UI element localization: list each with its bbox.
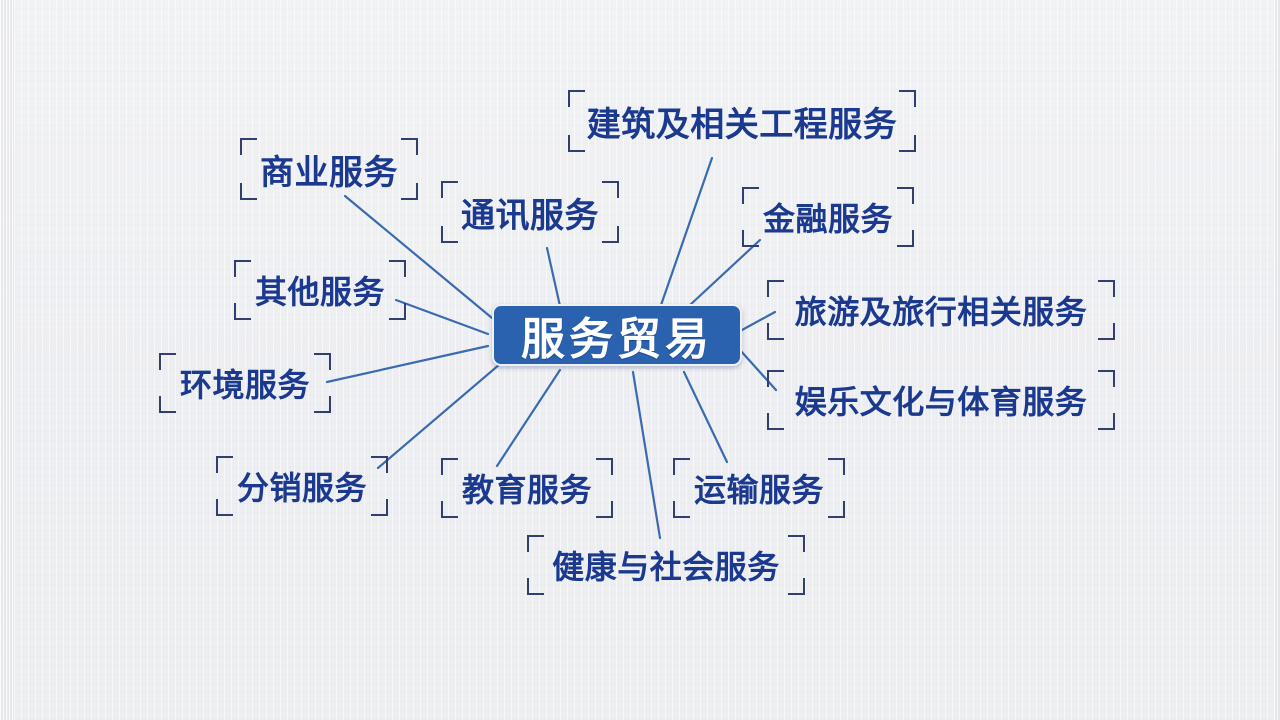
corner-bracket-bl-icon <box>767 413 784 430</box>
leaf-node-label: 环境服务 <box>180 360 310 406</box>
corner-bracket-br-icon <box>401 183 418 200</box>
leaf-node-label: 旅游及旅行相关服务 <box>795 287 1088 333</box>
corner-bracket-br-icon <box>1098 413 1115 430</box>
corner-bracket-tl-icon <box>767 280 784 297</box>
corner-bracket-tr-icon <box>1098 280 1115 297</box>
corner-bracket-bl-icon <box>767 323 784 340</box>
corner-bracket-bl-icon <box>441 226 458 243</box>
center-node-service-trade[interactable]: 服务贸易 <box>492 304 742 366</box>
leaf-node-label: 建筑及相关工程服务 <box>587 97 898 146</box>
line-distribution <box>378 364 500 468</box>
line-environment <box>327 346 488 382</box>
corner-bracket-tr-icon <box>314 353 331 370</box>
corner-bracket-tl-icon <box>234 260 251 277</box>
corner-bracket-tr-icon <box>899 90 916 107</box>
corner-bracket-tl-icon <box>527 535 544 552</box>
leaf-node-communication[interactable]: 通讯服务 <box>441 181 619 243</box>
corner-bracket-bl-icon <box>441 501 458 518</box>
corner-bracket-br-icon <box>371 499 388 516</box>
corner-bracket-br-icon <box>596 501 613 518</box>
corner-bracket-br-icon <box>897 230 914 247</box>
corner-bracket-tl-icon <box>568 90 585 107</box>
corner-bracket-bl-icon <box>234 303 251 320</box>
corner-bracket-tr-icon <box>788 535 805 552</box>
corner-bracket-tr-icon <box>1098 370 1115 387</box>
line-transport <box>684 372 727 462</box>
corner-bracket-bl-icon <box>216 499 233 516</box>
corner-bracket-br-icon <box>389 303 406 320</box>
leaf-node-label: 运输服务 <box>694 465 824 511</box>
leaf-node-transport[interactable]: 运输服务 <box>673 458 845 518</box>
corner-bracket-br-icon <box>1098 323 1115 340</box>
corner-bracket-tr-icon <box>401 138 418 155</box>
corner-bracket-br-icon <box>899 135 916 152</box>
corner-bracket-tr-icon <box>371 456 388 473</box>
line-construction <box>660 158 712 308</box>
corner-bracket-tl-icon <box>216 456 233 473</box>
corner-bracket-bl-icon <box>673 501 690 518</box>
corner-bracket-tl-icon <box>441 181 458 198</box>
corner-bracket-tl-icon <box>159 353 176 370</box>
corner-bracket-bl-icon <box>742 230 759 247</box>
corner-bracket-bl-icon <box>568 135 585 152</box>
corner-bracket-bl-icon <box>527 578 544 595</box>
corner-bracket-tr-icon <box>897 187 914 204</box>
corner-bracket-tl-icon <box>742 187 759 204</box>
leaf-node-label: 分销服务 <box>237 463 367 509</box>
leaf-node-other[interactable]: 其他服务 <box>234 260 406 320</box>
leaf-node-financial[interactable]: 金融服务 <box>742 187 914 247</box>
corner-bracket-br-icon <box>828 501 845 518</box>
corner-bracket-tl-icon <box>767 370 784 387</box>
corner-bracket-tr-icon <box>602 181 619 198</box>
corner-bracket-bl-icon <box>159 396 176 413</box>
corner-bracket-tl-icon <box>240 138 257 155</box>
corner-bracket-br-icon <box>788 578 805 595</box>
leaf-node-health[interactable]: 健康与社会服务 <box>527 535 805 595</box>
line-education <box>497 370 560 466</box>
corner-bracket-tl-icon <box>673 458 690 475</box>
leaf-node-education[interactable]: 教育服务 <box>441 458 613 518</box>
leaf-node-label: 健康与社会服务 <box>552 542 780 588</box>
leaf-node-label: 娱乐文化与体育服务 <box>795 377 1088 423</box>
leaf-node-business[interactable]: 商业服务 <box>240 138 418 200</box>
corner-bracket-br-icon <box>602 226 619 243</box>
leaf-node-label: 教育服务 <box>462 465 592 511</box>
leaf-node-tourism[interactable]: 旅游及旅行相关服务 <box>767 280 1115 340</box>
corner-bracket-bl-icon <box>240 183 257 200</box>
center-node-label: 服务贸易 <box>521 303 713 367</box>
leaf-node-label: 通讯服务 <box>461 188 599 237</box>
corner-bracket-tr-icon <box>828 458 845 475</box>
corner-bracket-tr-icon <box>389 260 406 277</box>
leaf-node-distribution[interactable]: 分销服务 <box>216 456 388 516</box>
leaf-node-label: 商业服务 <box>260 145 398 194</box>
corner-bracket-tl-icon <box>441 458 458 475</box>
leaf-node-label: 其他服务 <box>255 267 385 313</box>
diagram-canvas: 服务贸易 建筑及相关工程服务商业服务通讯服务金融服务旅游及旅行相关服务娱乐文化与… <box>0 0 1280 720</box>
leaf-node-environment[interactable]: 环境服务 <box>159 353 331 413</box>
line-health <box>633 372 660 538</box>
corner-bracket-tr-icon <box>596 458 613 475</box>
corner-bracket-br-icon <box>314 396 331 413</box>
leaf-node-construction[interactable]: 建筑及相关工程服务 <box>568 90 916 152</box>
line-communication <box>547 248 560 306</box>
leaf-node-entertainment[interactable]: 娱乐文化与体育服务 <box>767 370 1115 430</box>
leaf-node-label: 金融服务 <box>763 194 893 240</box>
line-other <box>396 300 488 334</box>
